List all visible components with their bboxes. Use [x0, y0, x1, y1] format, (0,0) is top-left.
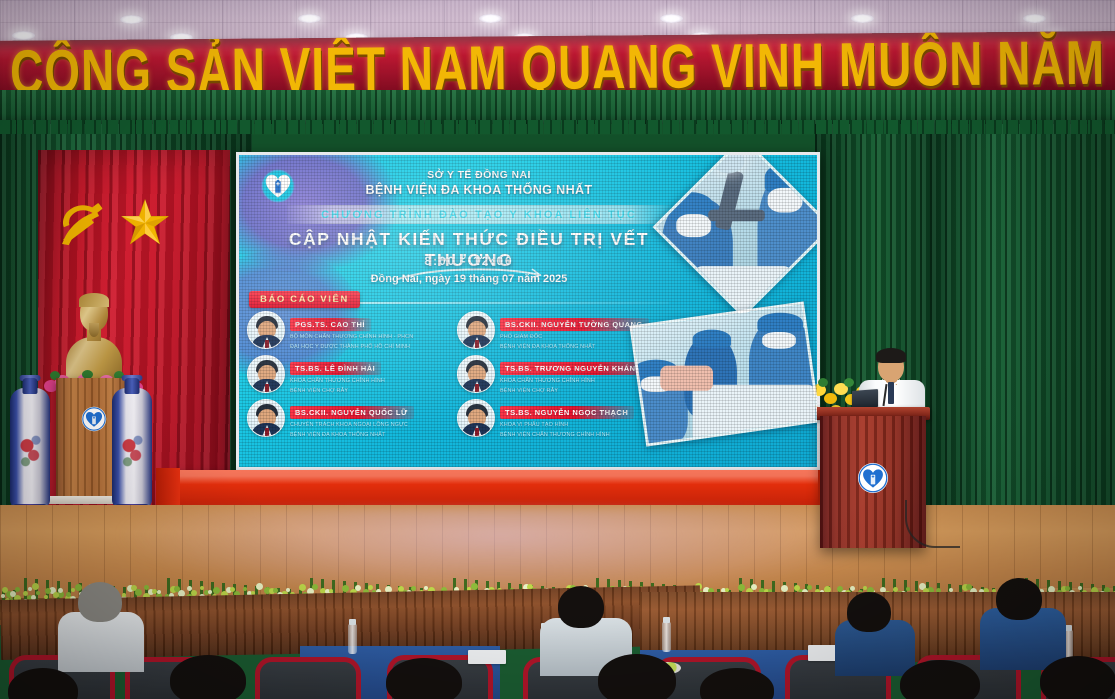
- hedge-leaf: [751, 584, 757, 590]
- hedge-leaf: [342, 585, 349, 592]
- speaker-entry: TS.BS. LÊ ĐÌNH HẢI KHOA CHẤN THƯƠNG CHỈN…: [247, 355, 457, 395]
- operating-room-team-photo: [629, 301, 817, 446]
- hedge-leaf: [174, 586, 180, 592]
- led-screen-frame: SỞ Y TẾ ĐỒNG NAI BỆNH VIỆN ĐA KHOA THỐNG…: [236, 152, 820, 470]
- hospital-heart-logo-icon: [81, 406, 107, 432]
- speaker-avatar: [457, 399, 495, 437]
- speaker-entry: BS.CKII. NGUYỄN QUỐC LỮ CHUYÊN TRÁCH KHO…: [247, 399, 457, 439]
- audience-foreground-head: [386, 658, 462, 699]
- slide-program-ribbon: CHƯƠNG TRÌNH ĐÀO TẠO Y KHOA LIÊN TỤC: [287, 205, 671, 224]
- water-bottle: [348, 624, 357, 654]
- presentation-slide[interactable]: SỞ Y TẾ ĐỒNG NAI BỆNH VIỆN ĐA KHOA THỐNG…: [239, 155, 817, 467]
- surgery-microscope-photo: [652, 155, 817, 318]
- hedge-leaf: [256, 583, 263, 590]
- surgery-photo-1-inner: [655, 155, 817, 315]
- hedge-leaf: [807, 585, 812, 590]
- stage-platform-left-end: [156, 468, 180, 508]
- slide-program-label: CHƯƠNG TRÌNH ĐÀO TẠO Y KHOA LIÊN TỤC: [321, 209, 637, 221]
- hedge-leaf: [738, 584, 745, 591]
- speaker-name: PGS.TS. CAO THỈ: [290, 318, 371, 331]
- ceiling-downlight: [298, 14, 321, 23]
- hedge-leaf: [906, 587, 910, 591]
- audience-person-head: [558, 586, 604, 628]
- speaker-name: TS.BS. NGUYỄN NGỌC THẠCH: [500, 406, 634, 419]
- audience-person-head: [78, 582, 122, 622]
- surgery-photo-2-inner: [629, 304, 817, 443]
- porcelain-vase-left: [10, 388, 50, 508]
- hedge-leaf: [58, 588, 63, 593]
- hedge-leaf: [32, 583, 39, 590]
- hedge-leaf: [10, 591, 16, 597]
- curtain-valance: [0, 90, 1115, 124]
- slide-org-line-1: SỞ Y TẾ ĐỒNG NAI: [299, 169, 659, 181]
- speaker-avatar: [247, 399, 285, 437]
- hedge-leaf: [144, 585, 149, 590]
- hedge-leaf: [53, 592, 59, 598]
- slide-time-text: 8:00 - 12:00: [259, 254, 679, 268]
- hedge-leaf: [23, 591, 28, 596]
- speakers-section-badge: BÁO CÁO VIÊN: [249, 291, 360, 308]
- hedge-leaf: [15, 587, 20, 592]
- audience-person-head: [996, 578, 1042, 620]
- hedge-leaf: [213, 587, 220, 594]
- speakers-row: BS.CKII. NGUYỄN QUỐC LỮ CHUYÊN TRÁCH KHO…: [247, 399, 667, 439]
- hedge-leaf: [45, 588, 51, 594]
- hedge-leaf: [200, 586, 204, 590]
- speaker-info: PGS.TS. CAO THỈ BỘ MÔN CHẤN THƯƠNG CHỈNH…: [290, 311, 413, 351]
- hedge-leaf: [781, 585, 788, 592]
- water-bottle: [662, 622, 671, 652]
- speaker-name: TS.BS. LÊ ĐÌNH HẢI: [290, 362, 381, 375]
- speaker-avatar: [247, 355, 285, 393]
- hedge-leaf: [157, 590, 161, 594]
- ceiling-downlight: [851, 14, 874, 23]
- audience-person-head: [847, 592, 891, 632]
- curtain-fold-texture: [930, 118, 1115, 530]
- hedge-leaf: [273, 588, 278, 593]
- table-name-card: [468, 650, 506, 664]
- hedge-leaf: [312, 584, 318, 590]
- speakers-row: TS.BS. LÊ ĐÌNH HẢI KHOA CHẤN THƯƠNG CHỈN…: [247, 355, 667, 395]
- porcelain-vase-right: [112, 388, 152, 508]
- speaker-affiliation-1: PHÓ GIÁM ĐỐC: [500, 334, 649, 342]
- speaker-entry: TS.BS. NGUYỄN NGỌC THẠCH KHOA VI PHẪU TẠ…: [457, 399, 667, 439]
- ceiling-downlight: [660, 14, 683, 23]
- hedge-leaf: [966, 584, 972, 590]
- hedge-leaf: [1, 594, 5, 598]
- hedge-leaf: [243, 587, 247, 591]
- speaker-avatar: [457, 355, 495, 393]
- speaker-name: BS.CKII. NGUYỄN QUỐC LỮ: [290, 406, 414, 419]
- hedge-leaf: [471, 583, 478, 590]
- ceiling-downlight: [1023, 14, 1046, 23]
- ceiling-downlight: [120, 15, 143, 24]
- hedge-leaf: [230, 587, 235, 592]
- hedge-leaf: [187, 586, 192, 591]
- slide-date-text: Đồng Nai, ngày 19 tháng 07 năm 2025: [259, 273, 679, 285]
- speaker-info: BS.CKII. NGUYỄN TƯỜNG QUANG PHÓ GIÁM ĐỐC…: [500, 311, 649, 351]
- speaker-affiliation-1: KHOA CHẤN THƯƠNG CHỈNH HÌNH: [290, 378, 385, 386]
- speaker-affiliation-1: BỘ MÔN CHẤN THƯƠNG CHỈNH HÌNH - PHCN: [290, 334, 413, 342]
- speaker-affiliation-2: BỆNH VIỆN ĐA KHOA THỐNG NHẤT: [500, 344, 649, 352]
- hedge-leaf: [794, 585, 800, 591]
- hedge-leaf: [299, 584, 306, 591]
- speaker-affiliation-1: KHOA VI PHẪU TẠO HÌNH: [500, 422, 634, 430]
- hedge-leaf: [1065, 586, 1070, 591]
- auditorium-photo-scene: CỘNG SẢN VIỆT NAM QUANG VINH MUÔN NĂM: [0, 0, 1115, 699]
- hedge-leaf: [411, 586, 416, 591]
- speaker-info: TS.BS. NGUYỄN NGỌC THẠCH KHOA VI PHẪU TẠ…: [500, 399, 634, 439]
- speaker-affiliation-2: BỆNH VIỆN CHỢ RẪY: [290, 388, 385, 396]
- audience-foreground-head: [598, 654, 676, 699]
- slide-org-line-2: BỆNH VIỆN ĐA KHOA THỐNG NHẤT: [299, 183, 659, 197]
- hospital-heart-logo-icon: [857, 462, 889, 494]
- platform-highlight: [175, 470, 910, 506]
- speaker-avatar: [457, 311, 495, 349]
- hedge-leaf: [850, 586, 855, 591]
- ceiling-downlight: [479, 14, 502, 23]
- speaker-avatar: [247, 311, 285, 349]
- podium-laptop: [852, 389, 878, 409]
- hammer-and-sickle-icon: [52, 196, 108, 254]
- speaker-affiliation-2: ĐẠI HỌC Y DƯỢC THÀNH PHỐ HỒ CHÍ MINH: [290, 344, 413, 352]
- speaker-info: BS.CKII. NGUYỄN QUỐC LỮ CHUYÊN TRÁCH KHO…: [290, 399, 414, 439]
- hospital-heart-logo-icon: [261, 169, 295, 203]
- valance-fold-texture: [0, 90, 1115, 124]
- speaker-entry: PGS.TS. CAO THỈ BỘ MÔN CHẤN THƯƠNG CHỈNH…: [247, 311, 457, 351]
- speaker-affiliation-2: BỆNH VIỆN ĐA KHOA THỐNG NHẤT: [290, 432, 414, 440]
- audience-foreground-head: [1040, 656, 1115, 699]
- speaker-affiliation-2: BỆNH VIỆN CHẤN THƯƠNG CHỈNH HÌNH: [500, 432, 634, 440]
- curtain-right: [930, 118, 1115, 530]
- ceiling-downlight: [12, 31, 35, 40]
- speakers-grid: PGS.TS. CAO THỈ BỘ MÔN CHẤN THƯƠNG CHỈNH…: [247, 311, 667, 443]
- hedge-leaf: [355, 585, 361, 591]
- speaker-info: TS.BS. LÊ ĐÌNH HẢI KHOA CHẤN THƯƠNG CHỈN…: [290, 355, 385, 395]
- speakers-divider-rule: [339, 302, 669, 304]
- audience-foreground-head: [170, 655, 246, 699]
- slide-organization-header: SỞ Y TẾ ĐỒNG NAI BỆNH VIỆN ĐA KHOA THỐNG…: [299, 169, 659, 197]
- stage-red-platform: [175, 470, 910, 506]
- auditorium-seat[interactable]: [260, 662, 356, 699]
- hedge-leaf: [286, 588, 290, 592]
- hedge-leaf: [36, 591, 40, 595]
- speakers-row: PGS.TS. CAO THỈ BỘ MÔN CHẤN THƯƠNG CHỈNH…: [247, 311, 667, 351]
- valance-scallop-trim: [0, 120, 1115, 134]
- speaker-name: BS.CKII. NGUYỄN TƯỜNG QUANG: [500, 318, 649, 331]
- gold-star-icon: [120, 198, 170, 248]
- hedge-leaf: [131, 585, 137, 591]
- speaker-affiliation-1: CHUYÊN TRÁCH KHOA NGOẠI LỒNG NGỰC: [290, 422, 414, 430]
- hedge-leaf: [208, 590, 212, 594]
- hedge-leaf: [1078, 586, 1082, 590]
- hedge-leaf: [66, 592, 71, 597]
- hedge-leaf: [2, 587, 8, 593]
